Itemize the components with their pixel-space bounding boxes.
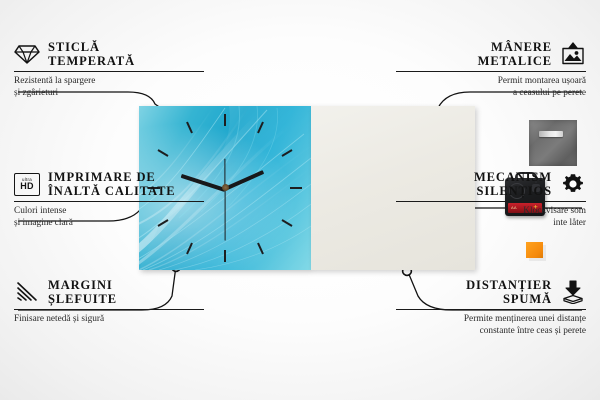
callout-title-line1: MÂNERE bbox=[478, 40, 552, 54]
callout-foam-spacer: DISTANȚIER SPUMĂ Permite menținerea unei… bbox=[396, 278, 586, 337]
callout-high-quality-print: ultra HD IMPRIMARE DE ÎNALTĂ CALITATE Cu… bbox=[14, 170, 204, 229]
callout-subtitle-line2: și zgârieturi bbox=[14, 88, 204, 100]
infographic-stage: AA + STICLĂ bbox=[0, 0, 600, 400]
callout-subtitle-line2: constante între ceas și perete bbox=[396, 326, 586, 338]
callout-title-line1: IMPRIMARE DE bbox=[48, 170, 176, 184]
callout-subtitle-line1: Permite menținerea unei distanțe bbox=[396, 314, 586, 326]
callout-metal-hangers: MÂNERE METALICE Permit montarea ușoară a… bbox=[396, 40, 586, 99]
callout-title-line1: DISTANȚIER bbox=[466, 278, 552, 292]
gear-icon bbox=[560, 172, 586, 196]
callout-polished-edges: MARGINI ȘLEFUITE Finisare netedă și sigu… bbox=[14, 278, 204, 326]
polished-edge-icon bbox=[14, 280, 40, 304]
hanger-slot bbox=[539, 131, 563, 137]
callout-title-line1: STICLĂ bbox=[48, 40, 135, 54]
callout-title-line2: ȘLEFUITE bbox=[48, 292, 117, 306]
callout-title-line1: MECANISM bbox=[474, 170, 552, 184]
callout-divider bbox=[14, 71, 204, 72]
ultra-hd-icon: ultra HD bbox=[14, 172, 40, 196]
callout-divider bbox=[396, 71, 586, 72]
callout-subtitle-line1: Rezistentă la spargere bbox=[14, 76, 204, 88]
metal-hanger-plate bbox=[529, 120, 577, 166]
callout-divider bbox=[396, 201, 586, 202]
callout-subtitle-line1: Permit montarea ușoară bbox=[396, 76, 586, 88]
foam-spacer bbox=[526, 242, 543, 258]
clock-center-pivot bbox=[222, 184, 229, 191]
callout-title-line2: SPUMĂ bbox=[466, 292, 552, 306]
down-arrow-stack-icon bbox=[560, 280, 586, 304]
diamond-icon bbox=[14, 42, 40, 66]
callout-subtitle-line2: și imagine clară bbox=[14, 218, 204, 230]
callout-title-line2: SILENȚIOS bbox=[474, 184, 552, 198]
callout-subtitle-line1: Culori intense bbox=[14, 206, 204, 218]
callout-silent-mechanism: MECANISM SILENȚIOS Klockvisare som inte … bbox=[396, 170, 586, 229]
callout-title-line1: MARGINI bbox=[48, 278, 117, 292]
callout-subtitle-line2: a ceasului pe perete bbox=[396, 88, 586, 100]
callout-title-line2: METALICE bbox=[478, 54, 552, 68]
callout-divider bbox=[396, 309, 586, 310]
callout-subtitle-line1: Klockvisare som bbox=[396, 206, 586, 218]
callout-subtitle-line2: inte låter bbox=[396, 218, 586, 230]
ultra-hd-icon-main-text: HD bbox=[20, 182, 33, 191]
picture-frame-hanging-icon bbox=[560, 42, 586, 66]
callout-title-line2: TEMPERATĂ bbox=[48, 54, 135, 68]
callout-subtitle-line1: Finisare netedă și sigură bbox=[14, 314, 204, 326]
callout-divider bbox=[14, 309, 204, 310]
callout-title-line2: ÎNALTĂ CALITATE bbox=[48, 184, 176, 198]
callout-tempered-glass: STICLĂ TEMPERATĂ Rezistentă la spargere … bbox=[14, 40, 204, 99]
callout-divider bbox=[14, 201, 204, 202]
clock-second-hand bbox=[224, 189, 225, 241]
